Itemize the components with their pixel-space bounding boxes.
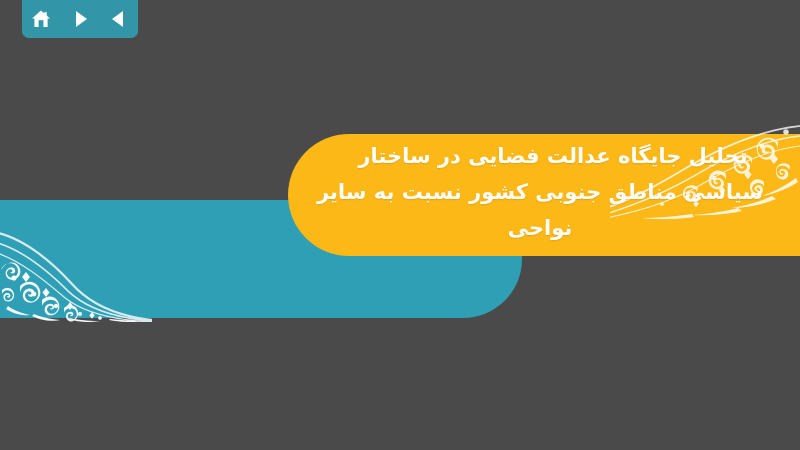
presentation-slide: تحلیل جایگاه عدالت فضایی در ساختار سیاسی… bbox=[0, 0, 800, 450]
title-line-3: نواحی bbox=[300, 210, 780, 246]
title-line-2: سیاسی مناطق جنوبی کشور نسبت به سایر bbox=[300, 174, 780, 210]
slide-title: تحلیل جایگاه عدالت فضایی در ساختار سیاسی… bbox=[300, 138, 780, 246]
navigation-bar bbox=[22, 0, 138, 38]
triangle-left-icon bbox=[109, 9, 129, 29]
triangle-right-icon bbox=[70, 9, 90, 29]
title-line-1: تحلیل جایگاه عدالت فضایی در ساختار bbox=[300, 138, 800, 174]
home-icon bbox=[30, 8, 52, 30]
home-button[interactable] bbox=[28, 6, 54, 32]
next-button[interactable] bbox=[67, 6, 93, 32]
previous-button[interactable] bbox=[106, 6, 132, 32]
